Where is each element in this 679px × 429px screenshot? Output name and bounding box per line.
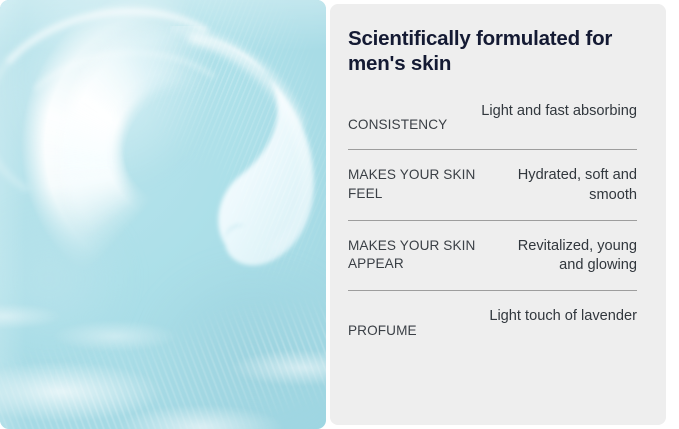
spec-row-consistency: CONSISTENCY Light and fast absorbing: [348, 102, 637, 150]
spec-panel-content: Scientifically formulated for men's skin…: [330, 26, 666, 356]
texture-layers: [0, 0, 326, 429]
spec-label: PROFUME: [348, 307, 417, 340]
spec-label: CONSISTENCY: [348, 102, 447, 134]
cream-texture-image: [0, 0, 326, 429]
spec-row-skin-appear: MAKES YOUR SKIN APPEAR Revitalized, youn…: [348, 221, 637, 292]
spec-value: Hydrated, soft and smooth: [495, 166, 637, 205]
texture-sheen: [0, 0, 326, 429]
spec-value: Light touch of lavender: [489, 307, 637, 326]
spec-row-skin-feel: MAKES YOUR SKIN FEEL Hydrated, soft and …: [348, 150, 637, 221]
product-feature-banner: Scientifically formulated for men's skin…: [0, 0, 679, 429]
spec-label: MAKES YOUR SKIN APPEAR: [348, 237, 482, 274]
spec-panel: Scientifically formulated for men's skin…: [330, 4, 666, 425]
spec-value: Revitalized, young and glowing: [492, 237, 637, 276]
page-title: Scientifically formulated for men's skin: [348, 26, 637, 76]
spec-row-profume: PROFUME Light touch of lavender: [348, 291, 637, 355]
spec-value: Light and fast absorbing: [481, 102, 637, 121]
spec-label: MAKES YOUR SKIN FEEL: [348, 166, 485, 203]
spec-table: CONSISTENCY Light and fast absorbing MAK…: [348, 102, 637, 356]
